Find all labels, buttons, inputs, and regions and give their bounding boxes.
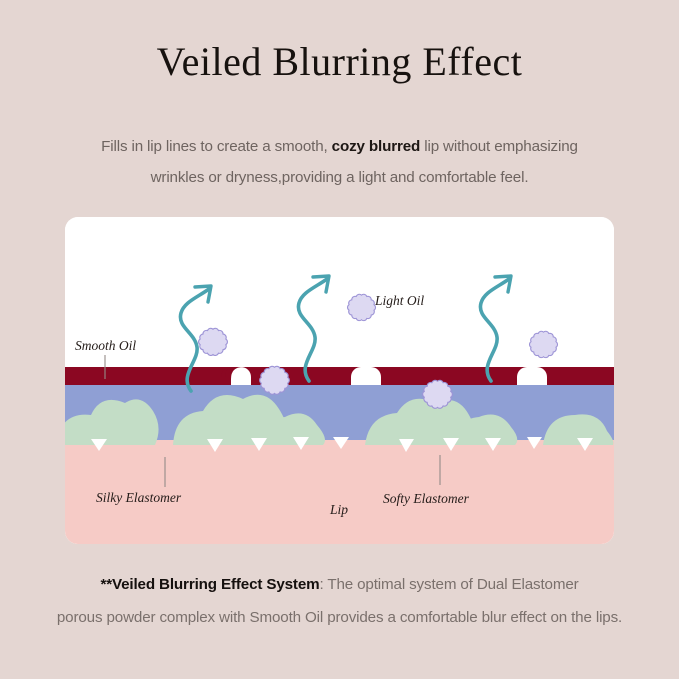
label-softy-elastomer: Softy Elastomer <box>383 491 470 506</box>
porous-particle-embedded-icon <box>260 366 290 394</box>
lip-color-segment <box>65 367 231 385</box>
lip-color-segment <box>371 367 527 385</box>
label-smooth-oil: Smooth Oil <box>75 338 136 353</box>
caption-line2: porous powder complex with Smooth Oil pr… <box>57 609 622 626</box>
porous-particle-icon <box>199 328 228 355</box>
page-root: Veiled Blurring Effect Fills in lip line… <box>0 0 679 679</box>
lip-color-segment <box>537 367 614 385</box>
intro-highlight: cozy blurred <box>332 138 421 155</box>
lip-color-segment <box>241 367 361 385</box>
page-title: Veiled Blurring Effect <box>0 38 679 86</box>
porous-particle-icon <box>529 331 557 357</box>
intro-text-part1: Fills in lip lines to create a smooth, <box>101 138 332 155</box>
label-light-oil: Light Oil <box>374 293 424 308</box>
porous-particle-icon <box>347 294 375 320</box>
label-lip: Lip <box>329 502 348 517</box>
lip-layer-diagram: Smooth Oil Light Oil Silky Elastomer Lip… <box>65 217 614 544</box>
intro-text-part2: lip without emphasizing <box>420 138 578 155</box>
diagram-card: Smooth Oil Light Oil Silky Elastomer Lip… <box>65 217 614 544</box>
caption-after-strong: : The optimal system of Dual Elastomer <box>319 576 578 593</box>
label-silky-elastomer: Silky Elastomer <box>96 490 182 505</box>
bottom-caption: **Veiled Blurring Effect System: The opt… <box>42 568 637 634</box>
caption-strong: **Veiled Blurring Effect System <box>100 576 319 593</box>
intro-line2: wrinkles or dryness,providing a light an… <box>151 169 529 186</box>
porous-particle-embedded-icon <box>423 380 453 408</box>
intro-paragraph: Fills in lip lines to create a smooth, c… <box>60 131 619 193</box>
